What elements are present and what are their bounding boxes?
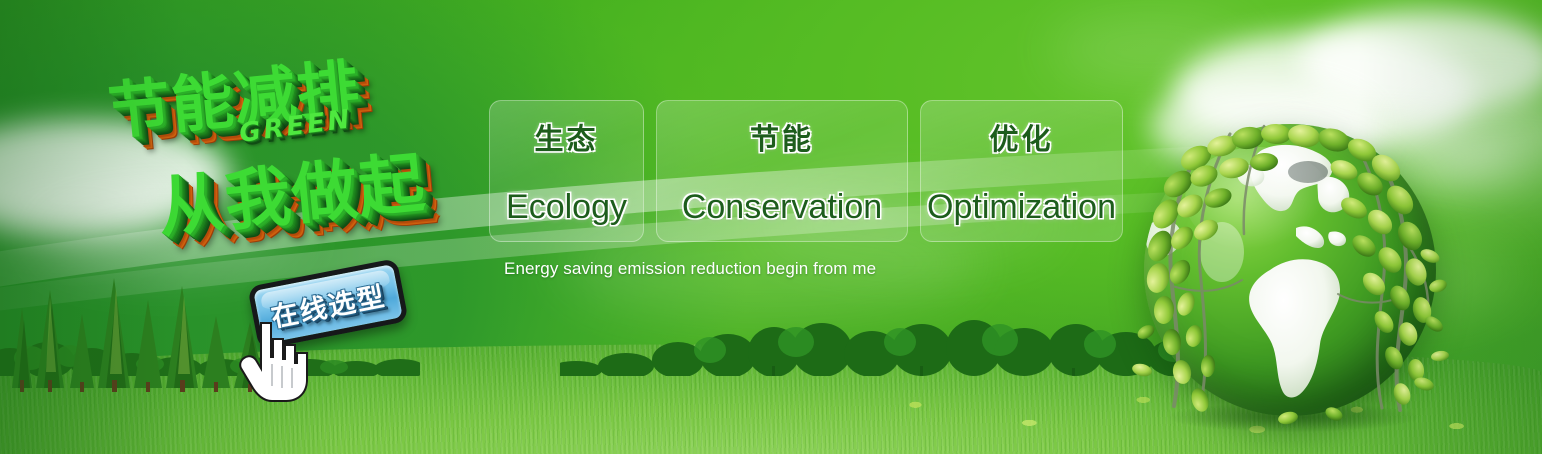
feature-card-cn-label: 优化 <box>989 116 1053 158</box>
feature-card-en-label: Optimization <box>927 188 1116 227</box>
feature-card-conservation[interactable]: 节能 Conservation <box>656 100 908 242</box>
eco-promo-banner: 节能减排 GREEN 从我做起 在线选型 生态 Ecology 节能 Conse… <box>0 0 1542 454</box>
feature-card-list: 生态 Ecology 节能 Conservation 优化 Optimizati… <box>489 100 1123 242</box>
globe-sphere <box>1144 124 1436 416</box>
feature-card-cn-label: 生态 <box>534 116 598 158</box>
headline-line-3: 从我做起 <box>153 130 429 251</box>
tagline-text: Energy saving emission reduction begin f… <box>504 259 876 279</box>
leafy-earth-globe <box>1144 124 1436 416</box>
feature-card-cn-label: 节能 <box>750 116 814 158</box>
feature-card-en-label: Ecology <box>506 188 627 227</box>
headline-3d: 节能减排 GREEN 从我做起 <box>81 19 502 296</box>
feature-card-ecology[interactable]: 生态 Ecology <box>489 100 644 242</box>
feature-card-en-label: Conservation <box>682 188 882 227</box>
online-selection-button-label: 在线选型 <box>267 274 388 334</box>
feature-card-optimization[interactable]: 优化 Optimization <box>920 100 1123 242</box>
